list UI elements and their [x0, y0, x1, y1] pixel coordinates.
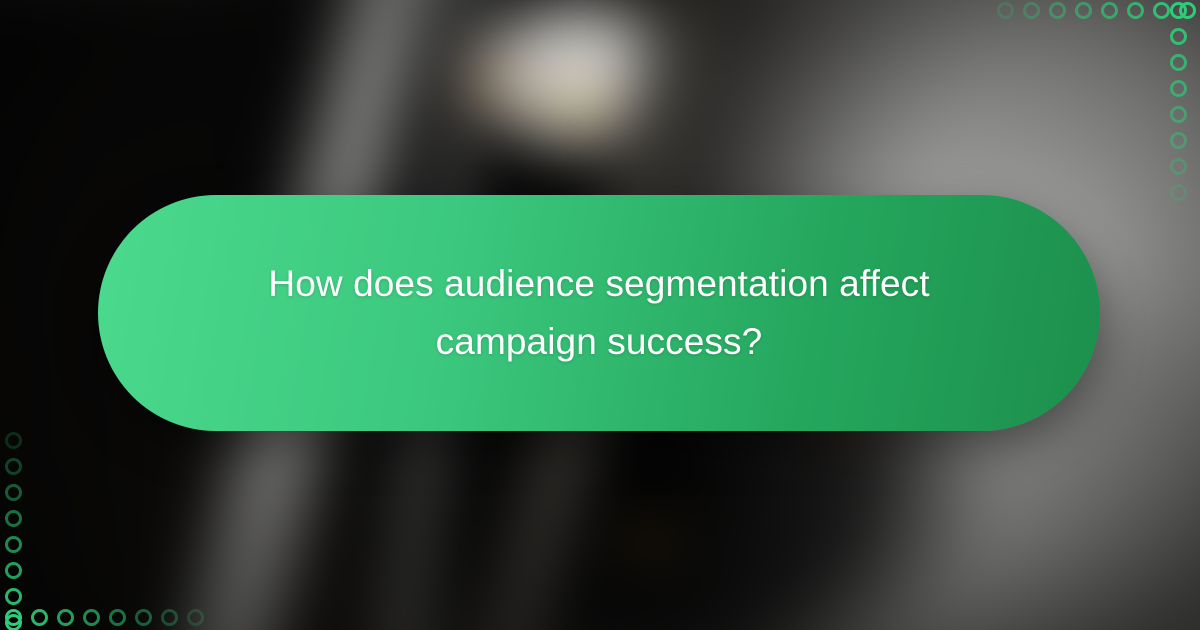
quote-text: How does audience segmentation affect ca… [249, 255, 949, 370]
decorative-circle [109, 609, 126, 626]
decorative-circle [1170, 80, 1187, 97]
decorative-circle [1170, 158, 1187, 175]
decorative-circle [1170, 2, 1187, 19]
decorative-circle [1170, 132, 1187, 149]
decorative-circle [161, 609, 178, 626]
decorative-circle [187, 609, 204, 626]
decorative-circle [5, 432, 22, 449]
quote-card: How does audience segmentation affect ca… [98, 195, 1100, 431]
decorative-circle [1170, 184, 1187, 201]
decorative-circle [31, 609, 48, 626]
decorative-circle [1023, 2, 1040, 19]
decorative-circle [997, 2, 1014, 19]
decorative-circle [5, 562, 22, 579]
decorative-circle [83, 609, 100, 626]
decorative-circle [1153, 2, 1170, 19]
quote-card-canvas: How does audience segmentation affect ca… [0, 0, 1200, 630]
decorative-circle [135, 609, 152, 626]
decorative-circle [1127, 2, 1144, 19]
decorative-circle [5, 510, 22, 527]
decorative-circle [1170, 54, 1187, 71]
decorative-circle [1101, 2, 1118, 19]
decorative-circle [5, 484, 22, 501]
decorative-circle [5, 536, 22, 553]
decorative-circle [1170, 28, 1187, 45]
decorative-circle [57, 609, 74, 626]
decorative-circle [5, 588, 22, 605]
decorative-circle [1075, 2, 1092, 19]
decorative-circle [1049, 2, 1066, 19]
decorative-circle [5, 458, 22, 475]
decorative-circle [5, 609, 22, 626]
decorative-circle [1170, 106, 1187, 123]
